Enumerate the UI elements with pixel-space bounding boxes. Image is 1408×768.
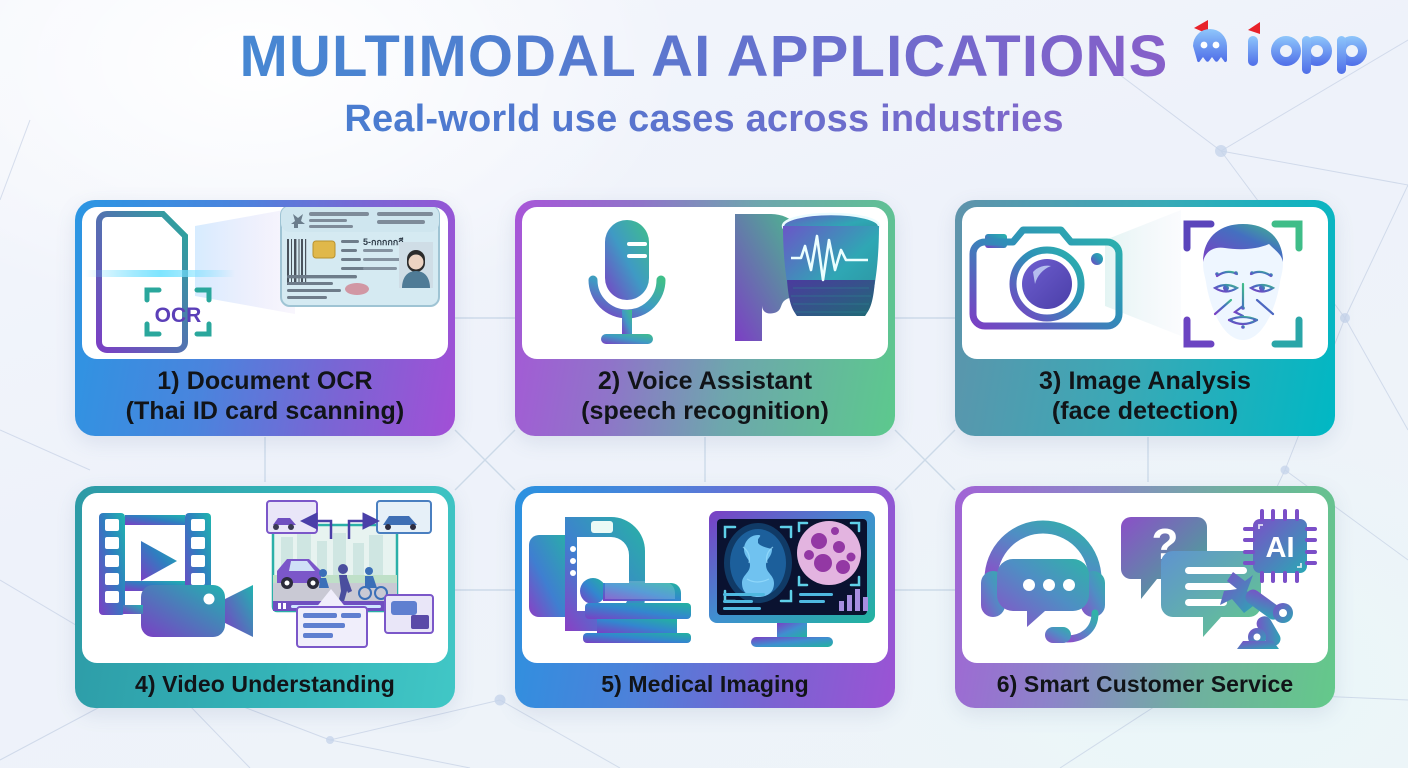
page-subtitle: Real-world use cases across industries	[0, 98, 1408, 141]
card-label-line1: 6) Smart Customer Service	[965, 671, 1325, 698]
logo-wordmark	[1248, 22, 1367, 74]
sound-wave-icon	[537, 240, 585, 326]
use-case-grid: OCR	[75, 200, 1337, 708]
mascot-icon	[1193, 20, 1227, 62]
card-label-medical-imaging: 5) Medical Imaging	[515, 663, 895, 708]
detection-panel-icon	[267, 501, 317, 533]
signature-stamp-icon	[345, 283, 369, 295]
patient-icon	[580, 578, 681, 604]
thai-id-card-icon: 5-กกกกกกี	[281, 207, 439, 306]
iapp-logo[interactable]	[1186, 14, 1386, 76]
sound-wave-icon	[669, 240, 717, 326]
chat-bubble-icon	[997, 559, 1089, 627]
card-label-image-analysis: 3) Image Analysis (face detection)	[955, 359, 1335, 436]
card-label-line2: (speech recognition)	[525, 397, 885, 427]
card-document-ocr[interactable]: OCR	[75, 200, 455, 436]
scan-line-icon	[85, 270, 235, 277]
card-label-line1: 3) Image Analysis	[965, 367, 1325, 397]
svg-text:5-กกกกกกี: 5-กกกกกกี	[363, 237, 404, 247]
microphone-boom-icon	[1045, 627, 1071, 643]
card-art-smart-customer-service: ? AI	[962, 493, 1328, 663]
card-art-medical-imaging	[522, 493, 888, 663]
card-label-line1: 4) Video Understanding	[85, 671, 445, 698]
cell-microscopy-icon	[797, 521, 861, 585]
card-art-video-understanding	[82, 493, 448, 663]
face-landmark-icon	[1203, 224, 1283, 340]
brain-scan-icon	[724, 523, 792, 603]
card-label-line2: (Thai ID card scanning)	[85, 397, 445, 427]
smartcard-chip-icon	[313, 241, 335, 258]
mri-scanner-icon	[529, 517, 691, 643]
camera-icon	[973, 230, 1119, 326]
card-label-voice-assistant: 2) Voice Assistant (speech recognition)	[515, 359, 895, 436]
card-voice-assistant[interactable]: 2) Voice Assistant (speech recognition)	[515, 200, 895, 436]
card-label-line1: 2) Voice Assistant	[525, 367, 885, 397]
smart-speaker-icon	[783, 214, 879, 316]
portrait-photo-icon	[399, 242, 433, 288]
microphone-icon	[593, 220, 661, 344]
card-image-analysis[interactable]: 3) Image Analysis (face detection)	[955, 200, 1335, 436]
ai-chip-label: AI	[1266, 532, 1295, 564]
card-art-document-ocr: OCR	[82, 207, 448, 359]
card-label-line1: 1) Document OCR	[85, 367, 445, 397]
card-medical-imaging[interactable]: 5) Medical Imaging	[515, 486, 895, 708]
card-label-line1: 5) Medical Imaging	[525, 671, 885, 698]
card-label-document-ocr: 1) Document OCR (Thai ID card scanning)	[75, 359, 455, 436]
detection-panel-icon	[377, 501, 431, 533]
card-art-image-analysis	[962, 207, 1328, 359]
play-button-icon	[141, 541, 177, 581]
card-video-understanding[interactable]: 4) Video Understanding	[75, 486, 455, 708]
detection-panel-icon	[385, 595, 433, 633]
monitor-icon	[709, 511, 875, 647]
ocr-badge-label: OCR	[155, 304, 202, 327]
card-smart-customer-service[interactable]: ? AI	[955, 486, 1335, 708]
video-camera-icon	[123, 585, 253, 637]
card-label-video-understanding: 4) Video Understanding	[75, 663, 455, 708]
card-art-voice-assistant	[522, 207, 888, 359]
ai-chip-icon: AI	[1245, 511, 1315, 581]
card-label-smart-customer-service: 6) Smart Customer Service	[955, 663, 1335, 708]
card-label-line2: (face detection)	[965, 397, 1325, 427]
